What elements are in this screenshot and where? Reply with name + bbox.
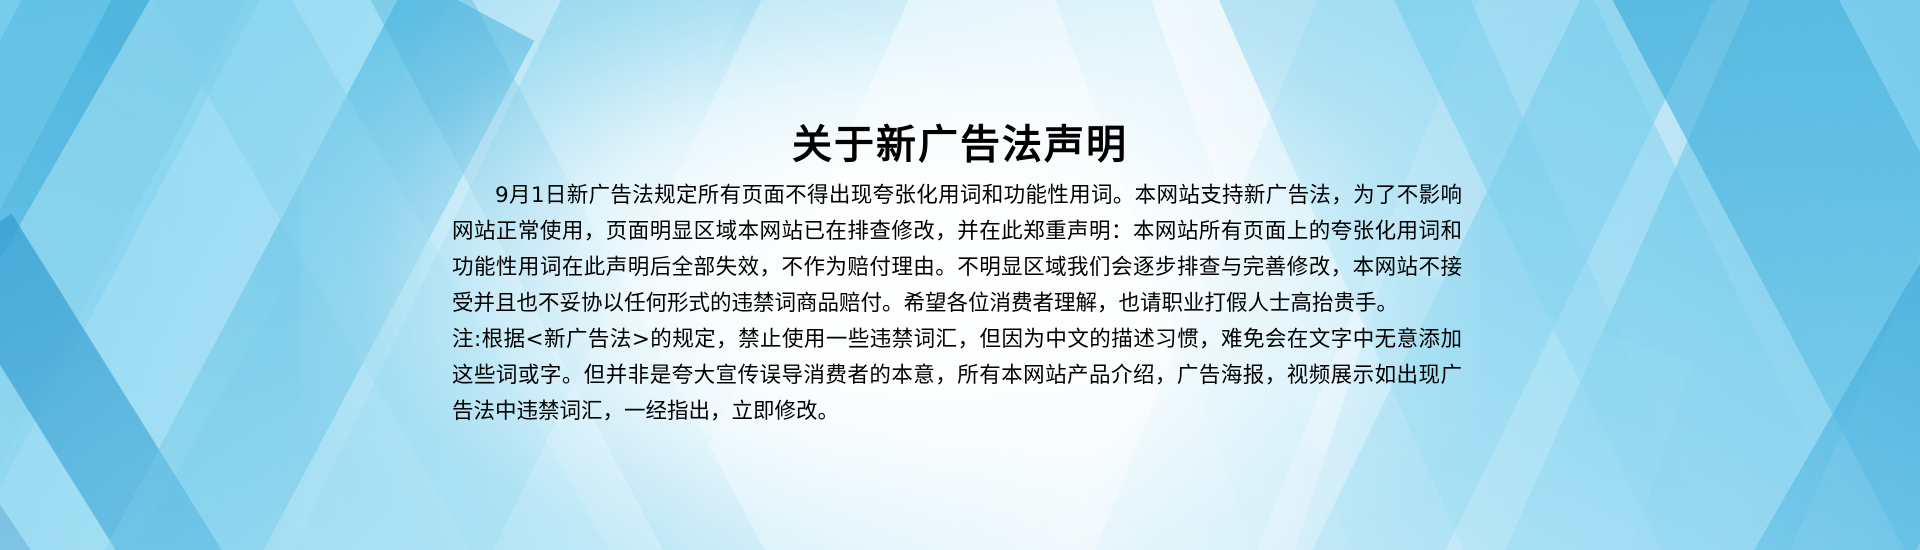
note-paragraph: 注:根据<新广告法>的规定，禁止使用一些违禁词汇，但因为中文的描述习惯，难免会在… xyxy=(452,322,1462,430)
advertising-law-statement-banner: 关于新广告法声明 9月1日新广告法规定所有页面不得出现夸张化用词和功能性用词。本… xyxy=(0,0,1920,550)
statement-body: 9月1日新广告法规定所有页面不得出现夸张化用词和功能性用词。本网站支持新广告法，… xyxy=(452,178,1462,430)
banner-content: 关于新广告法声明 9月1日新广告法规定所有页面不得出现夸张化用词和功能性用词。本… xyxy=(0,0,1920,550)
statement-paragraph: 9月1日新广告法规定所有页面不得出现夸张化用词和功能性用词。本网站支持新广告法，… xyxy=(452,178,1462,322)
page-title: 关于新广告法声明 xyxy=(0,123,1920,167)
